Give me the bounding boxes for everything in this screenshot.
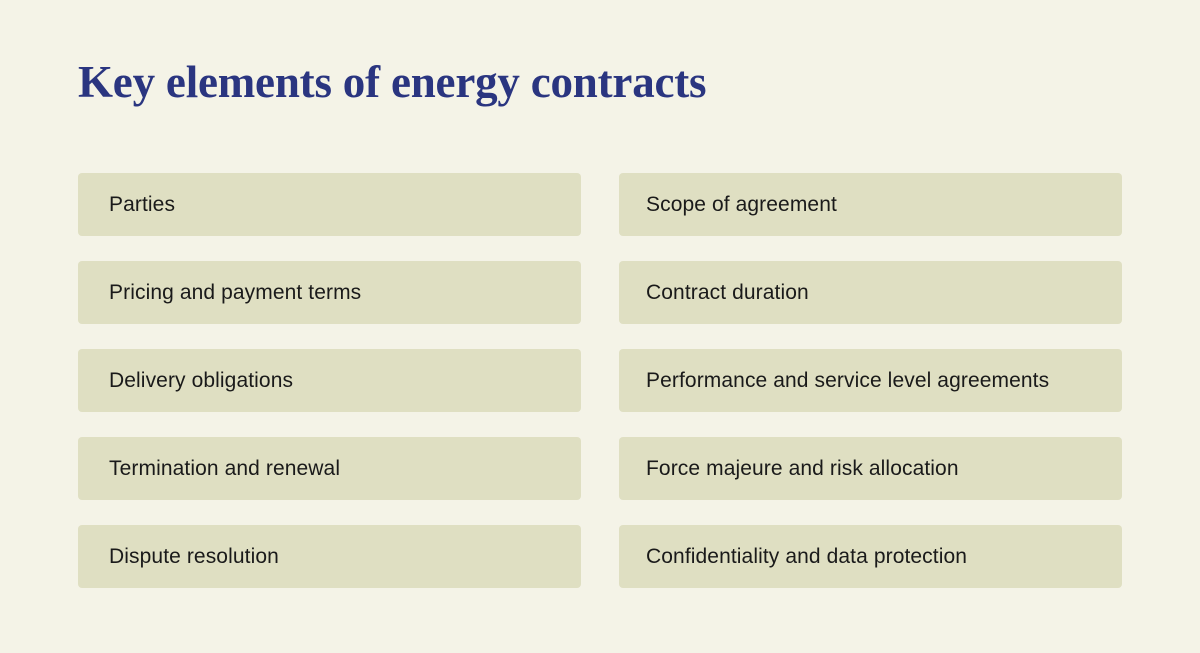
element-card-scope-of-agreement[interactable]: Scope of agreement	[619, 173, 1122, 236]
element-card-label: Performance and service level agreements	[646, 367, 1049, 394]
element-card-label: Confidentiality and data protection	[646, 543, 967, 570]
element-card-confidentiality-and-data-protection[interactable]: Confidentiality and data protection	[619, 525, 1122, 588]
element-card-parties[interactable]: Parties	[78, 173, 581, 236]
element-card-label: Force majeure and risk allocation	[646, 455, 959, 482]
element-card-force-majeure-and-risk-allocation[interactable]: Force majeure and risk allocation	[619, 437, 1122, 500]
element-card-termination-and-renewal[interactable]: Termination and renewal	[78, 437, 581, 500]
element-card-label: Pricing and payment terms	[109, 279, 361, 306]
element-card-label: Termination and renewal	[109, 455, 340, 482]
element-card-label: Dispute resolution	[109, 543, 279, 570]
page-title: Key elements of energy contracts	[78, 52, 706, 112]
element-card-dispute-resolution[interactable]: Dispute resolution	[78, 525, 581, 588]
element-card-label: Delivery obligations	[109, 367, 293, 394]
element-card-label: Contract duration	[646, 279, 809, 306]
slide-canvas: Key elements of energy contracts Parties…	[0, 0, 1200, 653]
element-card-contract-duration[interactable]: Contract duration	[619, 261, 1122, 324]
element-card-label: Parties	[109, 191, 175, 218]
element-card-delivery-obligations[interactable]: Delivery obligations	[78, 349, 581, 412]
element-card-pricing-and-payment-terms[interactable]: Pricing and payment terms	[78, 261, 581, 324]
element-card-label: Scope of agreement	[646, 191, 837, 218]
element-card-performance-and-service-level-agreements[interactable]: Performance and service level agreements	[619, 349, 1122, 412]
key-elements-grid: Parties Scope of agreement Pricing and p…	[78, 173, 1122, 588]
